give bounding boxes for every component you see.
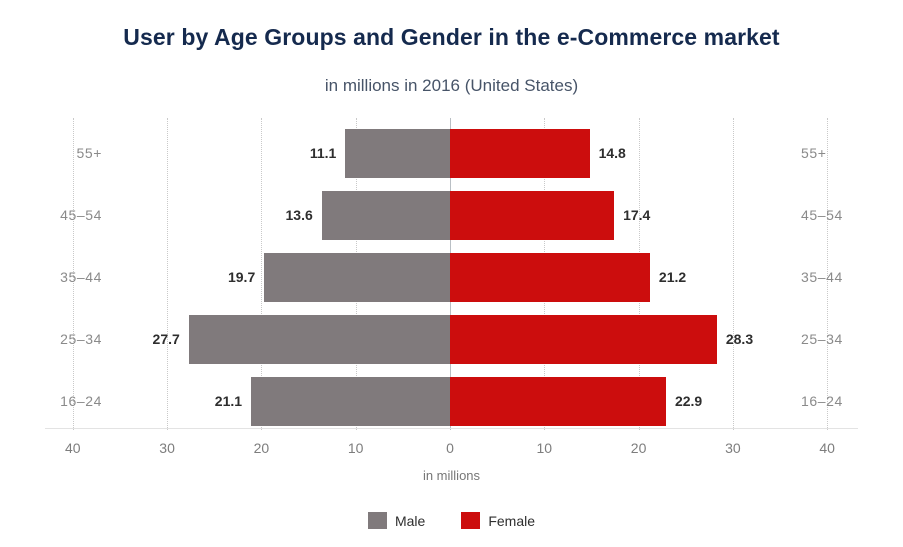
x-axis-tick-label: 10: [514, 440, 574, 456]
bar-male[interactable]: [251, 377, 450, 426]
bar-row: 16–2416–2421.122.9: [0, 377, 903, 426]
x-axis-label: in millions: [0, 468, 903, 483]
category-label-left: 35–44: [22, 253, 102, 302]
chart-subtitle: in millions in 2016 (United States): [0, 76, 903, 96]
value-label-male: 27.7: [153, 315, 180, 364]
legend-label: Male: [395, 513, 425, 529]
x-axis-baseline: [45, 428, 858, 429]
legend-swatch-icon: [461, 512, 480, 529]
bar-row: 45–5445–5413.617.4: [0, 191, 903, 240]
value-label-male: 13.6: [286, 191, 313, 240]
legend-item[interactable]: Male: [368, 512, 425, 529]
category-label-right: 55+: [801, 129, 881, 178]
value-label-female: 17.4: [623, 191, 650, 240]
category-label-right: 35–44: [801, 253, 881, 302]
category-label-left: 55+: [22, 129, 102, 178]
category-label-left: 45–54: [22, 191, 102, 240]
value-label-male: 11.1: [310, 129, 336, 178]
bar-male[interactable]: [345, 129, 450, 178]
value-label-female: 28.3: [726, 315, 753, 364]
value-label-female: 22.9: [675, 377, 702, 426]
bar-row: 55+55+11.114.8: [0, 129, 903, 178]
bar-female[interactable]: [450, 191, 614, 240]
value-label-female: 21.2: [659, 253, 686, 302]
legend-swatch-icon: [368, 512, 387, 529]
bar-female[interactable]: [450, 129, 590, 178]
chart-legend: MaleFemale: [0, 512, 903, 529]
bar-male[interactable]: [189, 315, 450, 364]
x-axis-tick-label: 0: [420, 440, 480, 456]
plot-area: 55+55+11.114.845–5445–5413.617.435–4435–…: [0, 118, 903, 430]
bar-male[interactable]: [322, 191, 450, 240]
x-axis-ticks: 40302010010203040: [0, 440, 903, 460]
bar-row: 25–3425–3427.728.3: [0, 315, 903, 364]
bar-row: 35–4435–4419.721.2: [0, 253, 903, 302]
x-axis-tick-label: 30: [703, 440, 763, 456]
chart-title: User by Age Groups and Gender in the e-C…: [0, 24, 903, 51]
legend-label: Female: [488, 513, 535, 529]
category-label-right: 25–34: [801, 315, 881, 364]
bar-female[interactable]: [450, 315, 717, 364]
bar-male[interactable]: [264, 253, 450, 302]
bar-female[interactable]: [450, 377, 666, 426]
value-label-female: 14.8: [599, 129, 626, 178]
category-label-left: 16–24: [22, 377, 102, 426]
x-axis-tick-label: 20: [609, 440, 669, 456]
category-label-right: 16–24: [801, 377, 881, 426]
x-axis-tick-label: 40: [797, 440, 857, 456]
value-label-male: 21.1: [215, 377, 242, 426]
x-axis-tick-label: 30: [137, 440, 197, 456]
category-label-right: 45–54: [801, 191, 881, 240]
x-axis-tick-label: 10: [326, 440, 386, 456]
value-label-male: 19.7: [228, 253, 255, 302]
legend-item[interactable]: Female: [461, 512, 535, 529]
bar-female[interactable]: [450, 253, 650, 302]
x-axis-tick-label: 40: [43, 440, 103, 456]
x-axis-tick-label: 20: [231, 440, 291, 456]
category-label-left: 25–34: [22, 315, 102, 364]
